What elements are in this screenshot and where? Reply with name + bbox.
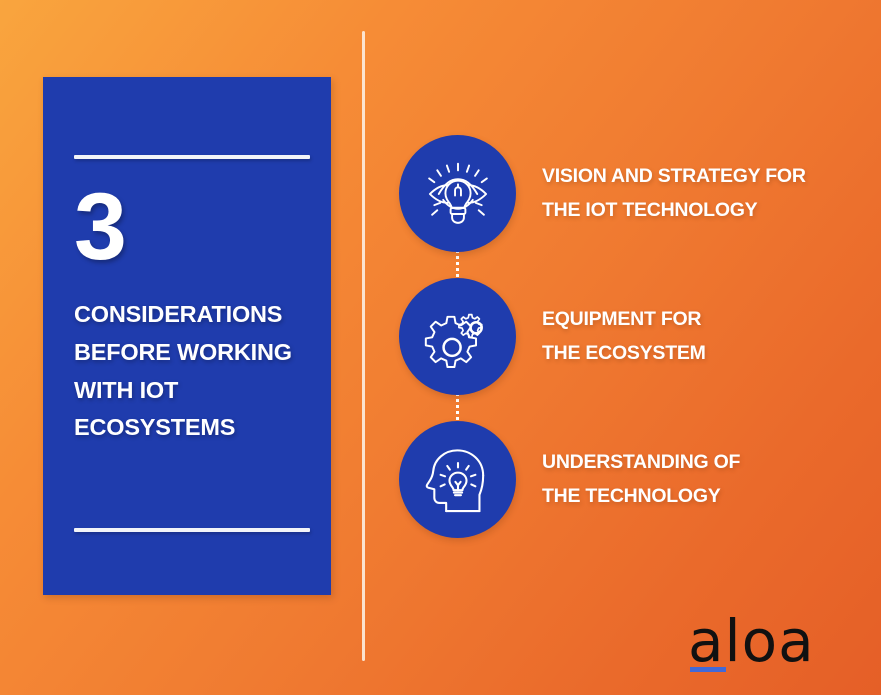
count-number: 3 bbox=[74, 180, 126, 275]
gears-icon bbox=[421, 300, 495, 374]
step-label-1-line-2: THE IOT TECHNOLOGY bbox=[542, 194, 806, 228]
title-line-3: WITH IOT bbox=[74, 372, 330, 410]
step-label-3-line-2: THE TECHNOLOGY bbox=[542, 480, 740, 514]
brand-logo: aloa bbox=[688, 612, 828, 674]
connector-dotted-1 bbox=[456, 252, 459, 278]
step-label-2: EQUIPMENT FOR THE ECOSYSTEM bbox=[542, 303, 706, 370]
steps-list: VISION AND STRATEGY FOR THE IOT TECHNOLO… bbox=[399, 135, 859, 538]
logo-text: aloa bbox=[688, 612, 828, 670]
step-icon-circle-3 bbox=[399, 421, 516, 538]
list-item: EQUIPMENT FOR THE ECOSYSTEM bbox=[399, 278, 859, 395]
step-label-2-line-2: THE ECOSYSTEM bbox=[542, 337, 706, 371]
list-item: UNDERSTANDING OF THE TECHNOLOGY bbox=[399, 421, 859, 538]
step-icon-circle-2 bbox=[399, 278, 516, 395]
panel-rule-top bbox=[74, 155, 310, 159]
step-label-3: UNDERSTANDING OF THE TECHNOLOGY bbox=[542, 446, 740, 513]
panel-rule-bottom bbox=[74, 528, 310, 532]
step-icon-circle-1 bbox=[399, 135, 516, 252]
step-label-3-line-1: UNDERSTANDING OF bbox=[542, 446, 740, 480]
logo-underline bbox=[690, 667, 726, 672]
step-label-1-line-1: VISION AND STRATEGY FOR bbox=[542, 160, 806, 194]
eye-lightbulb-icon bbox=[421, 157, 495, 231]
connector-dotted-2 bbox=[456, 395, 459, 421]
list-item: VISION AND STRATEGY FOR THE IOT TECHNOLO… bbox=[399, 135, 859, 252]
title-panel: 3 CONSIDERATIONS BEFORE WORKING WITH IOT… bbox=[43, 77, 331, 595]
vertical-divider bbox=[362, 31, 365, 661]
title-line-4: ECOSYSTEMS bbox=[74, 409, 330, 447]
step-label-2-line-1: EQUIPMENT FOR bbox=[542, 303, 706, 337]
infographic-slide: 3 CONSIDERATIONS BEFORE WORKING WITH IOT… bbox=[0, 0, 881, 695]
head-lightbulb-icon bbox=[421, 443, 495, 517]
step-label-1: VISION AND STRATEGY FOR THE IOT TECHNOLO… bbox=[542, 160, 806, 227]
page-title: CONSIDERATIONS BEFORE WORKING WITH IOT E… bbox=[74, 296, 330, 447]
title-line-1: CONSIDERATIONS bbox=[74, 296, 330, 334]
title-line-2: BEFORE WORKING bbox=[74, 334, 330, 372]
